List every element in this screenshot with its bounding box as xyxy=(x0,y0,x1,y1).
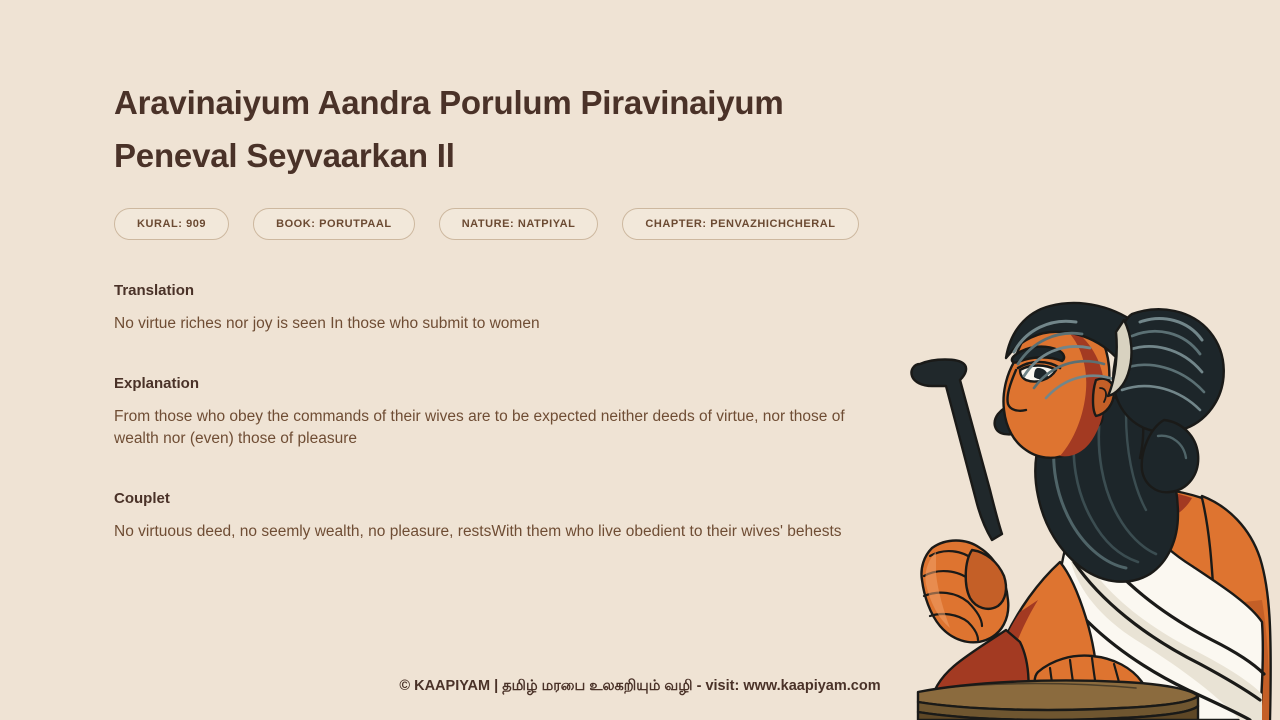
section-heading-couplet: Couplet xyxy=(114,490,914,508)
thiruvalluvar-sage-illustration xyxy=(910,300,1280,720)
section-body-couplet: No virtuous deed, no seemly wealth, no p… xyxy=(114,521,874,543)
section-translation: Translation No virtue riches nor joy is … xyxy=(114,282,914,335)
section-couplet: Couplet No virtuous deed, no seemly weal… xyxy=(114,490,914,543)
kural-content: Aravinaiyum Aandra Porulum Piravinaiyum … xyxy=(114,0,914,543)
meta-pill-chapter[interactable]: CHAPTER: PENVAZHICHCHERAL xyxy=(622,208,858,240)
meta-pill-kural[interactable]: KURAL: 909 xyxy=(114,208,229,240)
meta-pill-nature[interactable]: NATURE: NATPIYAL xyxy=(439,208,599,240)
section-explanation: Explanation From those who obey the comm… xyxy=(114,375,914,450)
meta-pill-row: KURAL: 909 BOOK: PORUTPAAL NATURE: NATPI… xyxy=(114,208,914,240)
section-body-explanation: From those who obey the commands of thei… xyxy=(114,406,874,450)
section-body-translation: No virtue riches nor joy is seen In thos… xyxy=(114,313,866,335)
footer-credit: © KAAPIYAM | தமிழ் மரபை உலகறியும் வழி - … xyxy=(0,678,1280,696)
section-heading-explanation: Explanation xyxy=(114,375,914,393)
meta-pill-book[interactable]: BOOK: PORUTPAAL xyxy=(253,208,415,240)
page-title: Aravinaiyum Aandra Porulum Piravinaiyum … xyxy=(114,76,884,182)
section-heading-translation: Translation xyxy=(114,282,914,300)
